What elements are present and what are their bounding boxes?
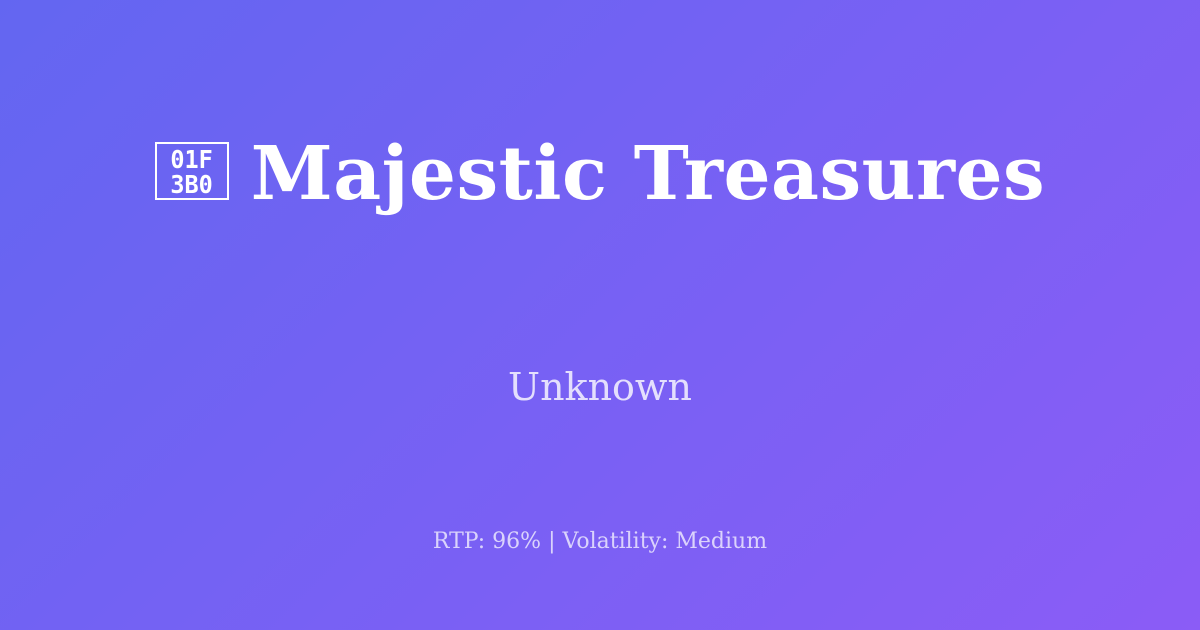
game-stats-line: RTP: 96% | Volatility: Medium [0,527,1200,557]
title-row: 01F 3B0 Majestic Treasures [0,0,1200,340]
game-share-card: 01F 3B0 Majestic Treasures Unknown RTP: … [0,0,1200,630]
slot-machine-icon: 01F 3B0 [155,142,229,200]
slot-machine-icon-codepoint-top: 01F [171,147,213,172]
slot-machine-icon-codepoint-bottom: 3B0 [171,172,213,197]
page-title: Majestic Treasures [251,137,1045,211]
game-provider-subtitle: Unknown [0,363,1200,411]
